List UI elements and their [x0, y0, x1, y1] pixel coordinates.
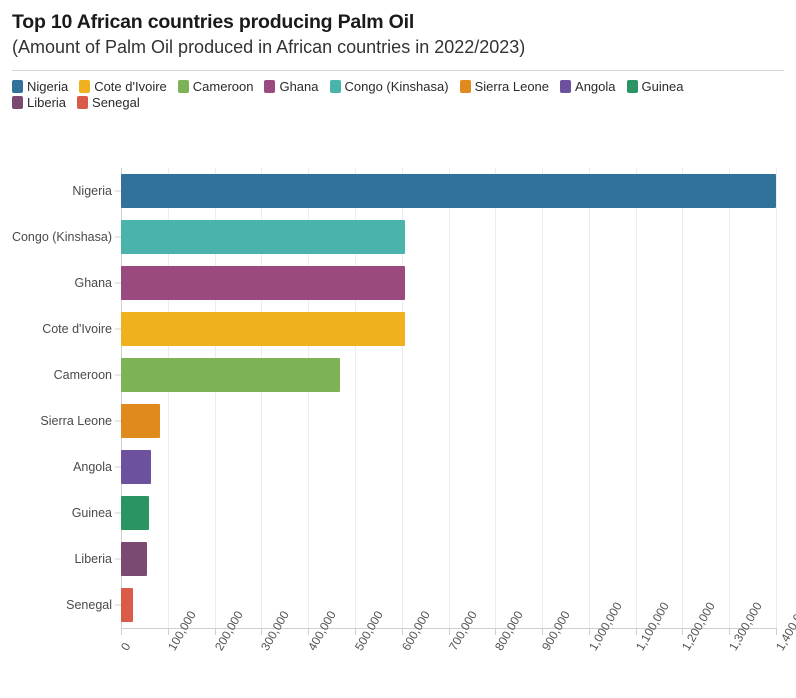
- legend-item[interactable]: Congo (Kinshasa): [330, 80, 449, 93]
- legend-item[interactable]: Cameroon: [178, 80, 254, 93]
- x-axis-tick: [542, 629, 543, 635]
- bar-row: [121, 398, 776, 444]
- x-axis-tick: [636, 629, 637, 635]
- y-axis-tick: [115, 605, 121, 606]
- bar-row: [121, 168, 776, 214]
- bar[interactable]: [121, 542, 147, 576]
- y-tick-label: Senegal: [66, 598, 112, 612]
- bar[interactable]: [121, 404, 160, 438]
- x-axis-tick: [402, 629, 403, 635]
- bar-row: [121, 260, 776, 306]
- y-tick-label: Congo (Kinshasa): [12, 230, 112, 244]
- legend-swatch-icon: [627, 80, 638, 93]
- bar[interactable]: [121, 358, 340, 392]
- legend-item[interactable]: Guinea: [627, 80, 684, 93]
- x-axis-tick: [168, 629, 169, 635]
- x-axis-tick: [589, 629, 590, 635]
- legend-swatch-icon: [330, 80, 341, 93]
- y-axis-tick: [115, 375, 121, 376]
- y-axis-tick: [115, 513, 121, 514]
- bar[interactable]: [121, 174, 776, 208]
- bar-row: [121, 444, 776, 490]
- x-axis-tick: [449, 629, 450, 635]
- bar[interactable]: [121, 588, 133, 622]
- page-title: Top 10 African countries producing Palm …: [12, 10, 784, 34]
- bar-row: [121, 306, 776, 352]
- x-axis-tick: [308, 629, 309, 635]
- y-tick-label: Cameroon: [54, 368, 112, 382]
- bar[interactable]: [121, 312, 405, 346]
- bar[interactable]: [121, 220, 405, 254]
- bar-row: [121, 582, 776, 628]
- legend-swatch-icon: [79, 80, 90, 93]
- legend-swatch-icon: [560, 80, 571, 93]
- x-axis-tick: [121, 629, 122, 635]
- bar-row: [121, 352, 776, 398]
- legend-item[interactable]: Senegal: [77, 96, 140, 109]
- legend-item-label: Ghana: [279, 80, 318, 93]
- x-axis-tick: [495, 629, 496, 635]
- page-subtitle: (Amount of Palm Oil produced in African …: [12, 36, 784, 59]
- bar[interactable]: [121, 266, 405, 300]
- legend-item-label: Liberia: [27, 96, 66, 109]
- y-axis-tick: [115, 559, 121, 560]
- chart-header: Top 10 African countries producing Palm …: [0, 0, 796, 71]
- x-axis-tick: [355, 629, 356, 635]
- legend-item[interactable]: Sierra Leone: [460, 80, 549, 93]
- bar-row: [121, 490, 776, 536]
- bar[interactable]: [121, 496, 149, 530]
- y-axis-tick: [115, 237, 121, 238]
- legend-item-label: Senegal: [92, 96, 140, 109]
- legend-item-label: Cameroon: [193, 80, 254, 93]
- y-axis-tick: [115, 329, 121, 330]
- legend-item[interactable]: Nigeria: [12, 80, 68, 93]
- legend-item[interactable]: Liberia: [12, 96, 66, 109]
- bars-container: [121, 168, 776, 628]
- legend-item-label: Sierra Leone: [475, 80, 549, 93]
- x-gridline: [776, 168, 777, 628]
- legend-item-label: Cote d'Ivoire: [94, 80, 167, 93]
- legend-item-label: Angola: [575, 80, 615, 93]
- legend-item[interactable]: Cote d'Ivoire: [79, 80, 167, 93]
- legend-item[interactable]: Ghana: [264, 80, 318, 93]
- bar-row: [121, 214, 776, 260]
- legend-swatch-icon: [12, 80, 23, 93]
- y-tick-label: Cote d'Ivoire: [42, 322, 112, 336]
- legend-swatch-icon: [12, 96, 23, 109]
- x-axis-tick: [215, 629, 216, 635]
- chart-legend: NigeriaCote d'IvoireCameroonGhanaCongo (…: [0, 71, 764, 112]
- y-tick-label: Sierra Leone: [40, 414, 112, 428]
- x-tick-label: 0: [118, 640, 133, 653]
- x-axis-tick: [261, 629, 262, 635]
- legend-swatch-icon: [460, 80, 471, 93]
- y-tick-label: Nigeria: [72, 184, 112, 198]
- y-axis-tick: [115, 283, 121, 284]
- y-axis-tick: [115, 191, 121, 192]
- plot-area: 0100,000200,000300,000400,000500,000600,…: [0, 160, 796, 698]
- x-axis-tick: [776, 629, 777, 635]
- y-tick-label: Ghana: [74, 276, 112, 290]
- y-tick-label: Angola: [73, 460, 112, 474]
- legend-swatch-icon: [77, 96, 88, 109]
- legend-item-label: Congo (Kinshasa): [345, 80, 449, 93]
- legend-item-label: Nigeria: [27, 80, 68, 93]
- y-tick-label: Guinea: [72, 506, 112, 520]
- legend-item-label: Guinea: [642, 80, 684, 93]
- x-axis-tick: [729, 629, 730, 635]
- y-tick-label: Liberia: [74, 552, 112, 566]
- bar[interactable]: [121, 450, 151, 484]
- bar-row: [121, 536, 776, 582]
- legend-item[interactable]: Angola: [560, 80, 615, 93]
- y-axis-tick: [115, 467, 121, 468]
- legend-swatch-icon: [178, 80, 189, 93]
- legend-swatch-icon: [264, 80, 275, 93]
- x-axis-tick: [682, 629, 683, 635]
- y-axis-tick: [115, 421, 121, 422]
